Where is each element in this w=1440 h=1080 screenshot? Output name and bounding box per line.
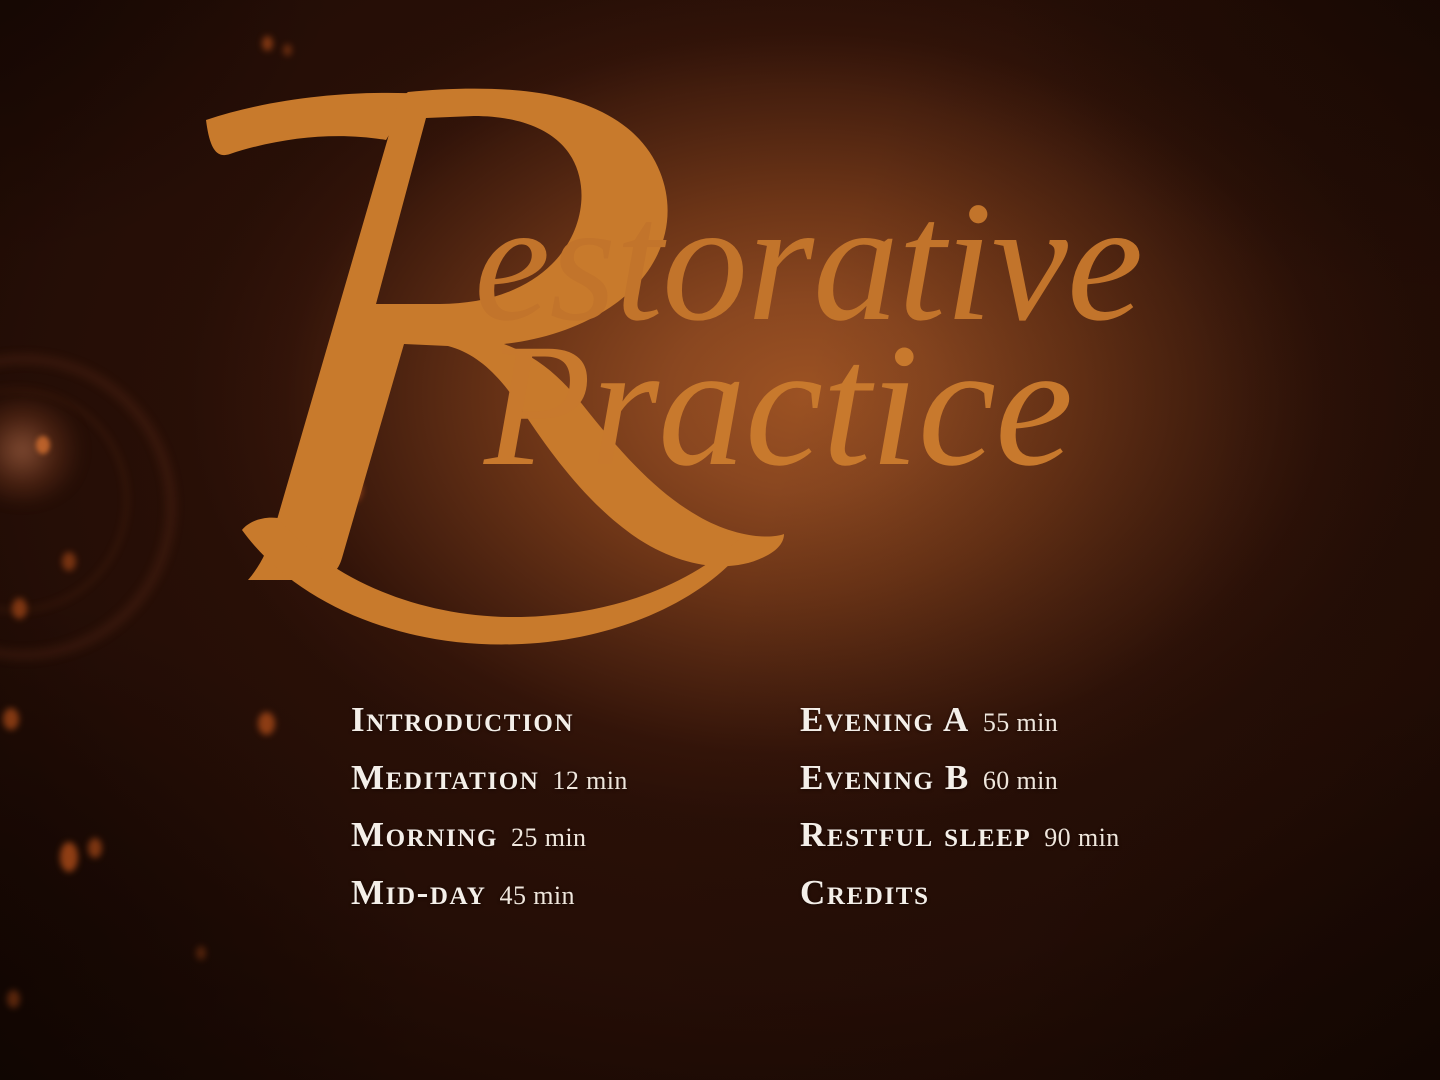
menu-item-duration: 12 min: [552, 766, 627, 796]
menu-item-label: Mid-day: [351, 873, 487, 913]
menu-item[interactable]: Meditation12 min: [351, 758, 628, 816]
menu-column-right: Evening A55 minEvening B60 minRestful sl…: [800, 700, 1120, 930]
menu-item-duration: 90 min: [1044, 823, 1119, 853]
menu-root: IntroductionMeditation12 minMorning25 mi…: [0, 0, 1440, 1080]
menu-item[interactable]: Morning25 min: [351, 815, 628, 873]
menu-item-duration: 25 min: [511, 823, 586, 853]
menu-item[interactable]: Evening B60 min: [800, 758, 1120, 816]
menu-item-duration: 55 min: [983, 708, 1058, 738]
menu-item-label: Morning: [351, 815, 498, 855]
dvd-menu-screen: estorative Practice IntroductionMeditati…: [0, 0, 1440, 1080]
menu-item[interactable]: Credits: [800, 873, 1120, 931]
menu-item-label: Meditation: [351, 758, 539, 798]
menu-item-duration: 45 min: [500, 881, 575, 911]
menu-item-label: Restful sleep: [800, 815, 1031, 855]
menu-item[interactable]: Restful sleep90 min: [800, 815, 1120, 873]
menu-item-label: Evening A: [800, 700, 970, 740]
menu-item[interactable]: Evening A55 min: [800, 700, 1120, 758]
menu-item-label: Introduction: [351, 700, 574, 740]
menu-item-label: Credits: [800, 873, 930, 913]
menu-column-left: IntroductionMeditation12 minMorning25 mi…: [351, 700, 628, 930]
menu-item[interactable]: Mid-day45 min: [351, 873, 628, 931]
menu-item-label: Evening B: [800, 758, 970, 798]
menu-item-duration: 60 min: [983, 766, 1058, 796]
menu-item[interactable]: Introduction: [351, 700, 628, 758]
